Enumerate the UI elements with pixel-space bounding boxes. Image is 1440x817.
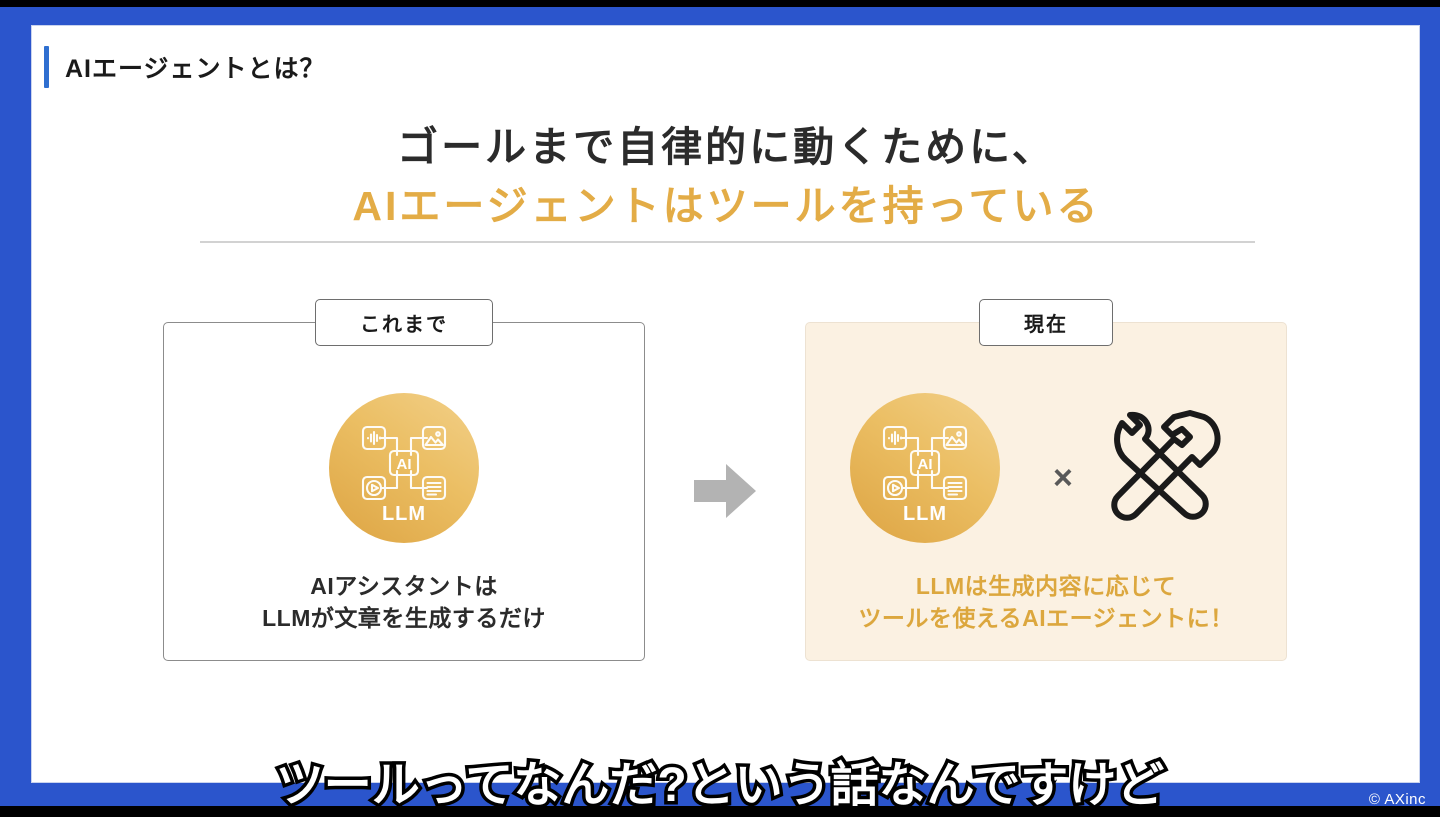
- panel-now: 現在: [805, 322, 1287, 661]
- panel-now-caption: LLMは生成内容に応じて ツールを使えるAIエージェントに！: [806, 570, 1286, 634]
- panel-now-caption-line-1: LLMは生成内容に応じて: [806, 570, 1286, 602]
- video-subtitle: ツールってなんだ?という話なんですけど: [0, 745, 1440, 815]
- llm-circle: AI LLM: [329, 393, 479, 543]
- llm-center-ai-label: AI: [918, 456, 933, 473]
- llm-label: LLM: [329, 503, 479, 526]
- llm-circle: AI LLM: [850, 393, 1000, 543]
- llm-center-ai-label: AI: [397, 456, 412, 473]
- panel-before-tag: これまで: [315, 299, 493, 346]
- title-divider: [200, 241, 1255, 243]
- llm-network-icon: AI: [357, 421, 451, 505]
- main-title-block: ゴールまで自律的に動くために、 AIエージェントはツールを持っている: [32, 118, 1420, 237]
- screen-root: AIエージェントとは？ ゴールまで自律的に動くために、 AIエージェントはツール…: [0, 0, 1440, 817]
- llm-label: LLM: [850, 503, 1000, 526]
- multiply-symbol: ×: [1053, 461, 1073, 495]
- main-title-line-2: AIエージェントはツールを持っている: [32, 177, 1420, 236]
- transition-arrow: [692, 462, 758, 525]
- panel-before-caption-line-2: LLMが文章を生成するだけ: [164, 602, 644, 634]
- panel-before: これまで: [163, 322, 645, 661]
- header-accent-bar: [44, 46, 49, 88]
- page-title: AIエージェントとは？: [65, 49, 326, 85]
- wrench-hammer-icon: [1100, 401, 1230, 521]
- right-arrow-icon: [692, 462, 758, 520]
- panel-now-caption-line-2: ツールを使えるAIエージェントに！: [806, 602, 1286, 634]
- main-title-line-1: ゴールまで自律的に動くために、: [32, 118, 1420, 177]
- panel-before-caption-line-1: AIアシスタントは: [164, 570, 644, 602]
- llm-badge-now: AI LLM: [850, 393, 1000, 543]
- llm-badge-before: AI LLM: [329, 393, 479, 543]
- tools-illustration: [1100, 401, 1230, 526]
- slide-canvas: AIエージェントとは？ ゴールまで自律的に動くために、 AIエージェントはツール…: [31, 25, 1420, 783]
- panel-before-caption: AIアシスタントは LLMが文章を生成するだけ: [164, 570, 644, 634]
- panel-now-tag: 現在: [979, 299, 1113, 346]
- slide-header: AIエージェントとは？: [44, 46, 326, 88]
- llm-network-icon: AI: [878, 421, 972, 505]
